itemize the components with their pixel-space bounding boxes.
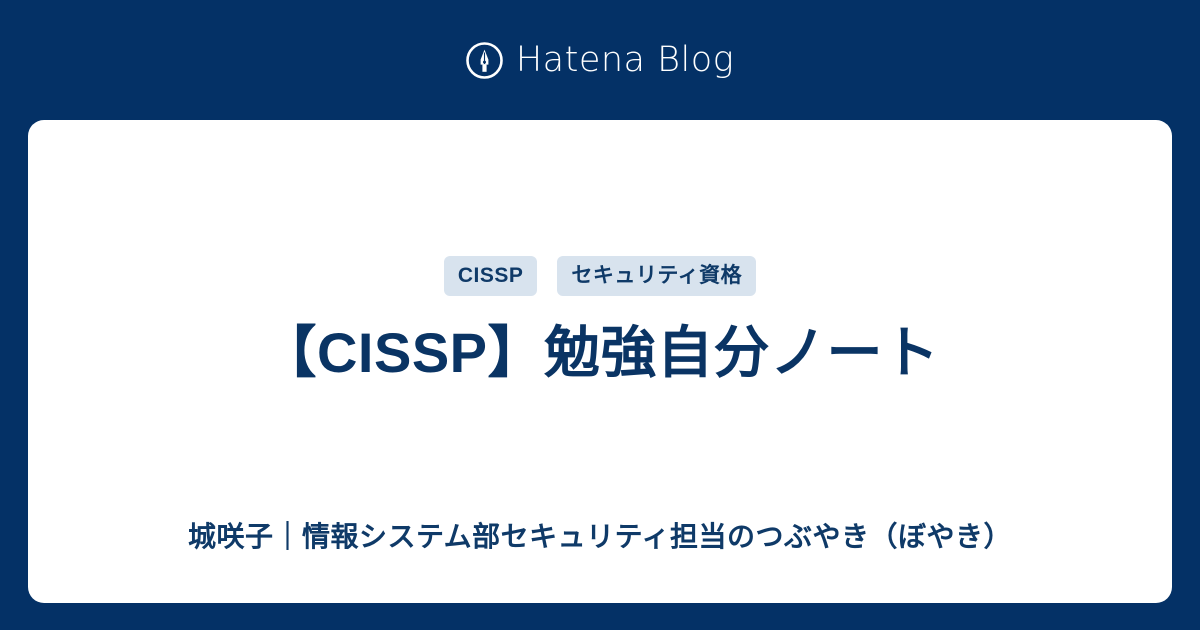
tag-chip-security-cert[interactable]: セキュリティ資格	[557, 256, 756, 296]
blog-name: 城咲子｜情報システム部セキュリティ担当のつぶやき（ぼやき）	[188, 519, 1012, 555]
hatena-blog-og-card: Hatena Blog CISSP セキュリティ資格 【CISSP】勉強自分ノー…	[0, 0, 1200, 630]
tag-chip-cissp[interactable]: CISSP	[444, 256, 538, 296]
entry-card: CISSP セキュリティ資格 【CISSP】勉強自分ノート 城咲子｜情報システム…	[28, 120, 1172, 603]
tag-list: CISSP セキュリティ資格	[444, 256, 756, 296]
entry-title: 【CISSP】勉強自分ノート	[260, 319, 939, 387]
brand-header: Hatena Blog	[0, 0, 1200, 120]
brand-name: Hatena Blog	[516, 43, 734, 78]
hatena-pen-nib-icon	[466, 42, 503, 79]
